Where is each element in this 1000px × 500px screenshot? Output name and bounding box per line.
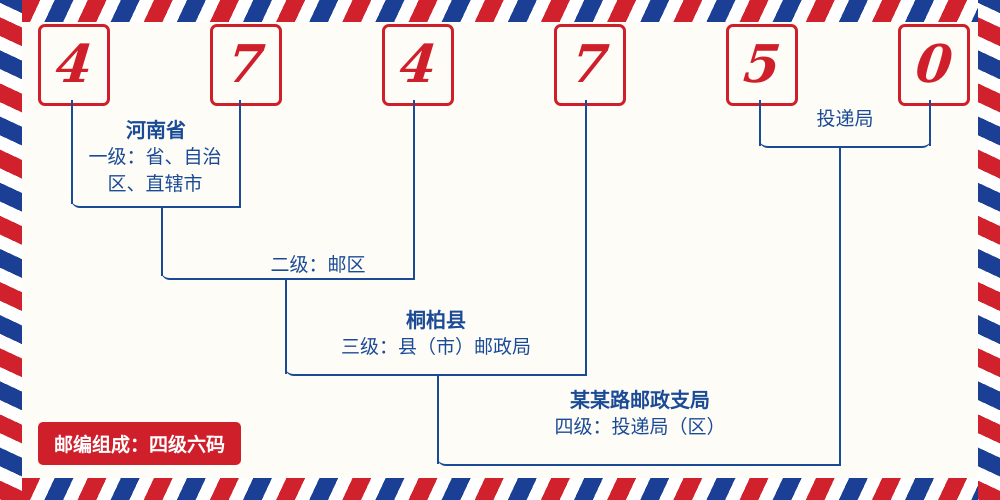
label-level2-subtitle: 二级：邮区 [180,252,456,279]
digit-box-6: 0 [898,24,970,106]
border-stripes-right [978,0,1000,500]
border-right [978,0,1000,500]
label-delivery: 投递局 [760,106,930,133]
border-bottom [0,478,1000,500]
border-top [0,0,1000,22]
connector-delivery-bottom [759,136,931,148]
digit-2: 7 [225,39,267,91]
connector-level4-bottom [437,454,841,466]
digit-4: 7 [569,39,611,91]
label-level3: 桐柏县 三级：县（市）邮政局 [300,306,572,361]
border-stripes-left [0,0,22,500]
label-level1: 河南省 一级：省、自治区、直辖市 [80,116,232,198]
connector-level1-right [239,100,243,206]
digit-5: 5 [741,39,783,91]
digit-box-5: 5 [726,24,798,106]
digit-box-3: 4 [382,24,454,106]
connector-level3-left [285,278,289,374]
label-level1-title: 河南省 [80,116,232,144]
connector-level4-left [437,374,441,464]
label-level4-subtitle: 四级：投递局（区） [472,414,808,441]
label-level2: 二级：邮区 [180,252,456,279]
border-stripes-bottom [0,478,1000,500]
digit-box-2: 7 [210,24,282,106]
connector-level1-left [71,100,75,204]
border-left [0,0,22,500]
connector-level3-bottom [285,364,587,376]
border-stripes-top [0,0,1000,22]
composition-badge: 邮编组成：四级六码 [38,422,241,465]
label-level4: 某某路邮政支局 四级：投递局（区） [472,386,808,441]
connector-level3-right [585,100,589,374]
digit-6: 0 [913,39,955,91]
digit-1: 4 [53,39,95,91]
digit-box-1: 4 [38,24,110,106]
envelope-diagram: 4 7 4 7 5 0 河南省 一级：省、自治区、直辖市 二级：邮区 桐柏县 [0,0,1000,500]
connector-level2-left [161,206,165,276]
label-level3-title: 桐柏县 [300,306,572,334]
connector-level4-right [839,146,843,464]
label-delivery-subtitle: 投递局 [760,106,930,133]
label-level1-subtitle: 一级：省、自治区、直辖市 [80,144,230,198]
label-level4-title: 某某路邮政支局 [472,386,808,414]
digit-box-4: 7 [554,24,626,106]
digit-3: 4 [397,39,439,91]
label-level3-subtitle: 三级：县（市）邮政局 [300,334,572,361]
